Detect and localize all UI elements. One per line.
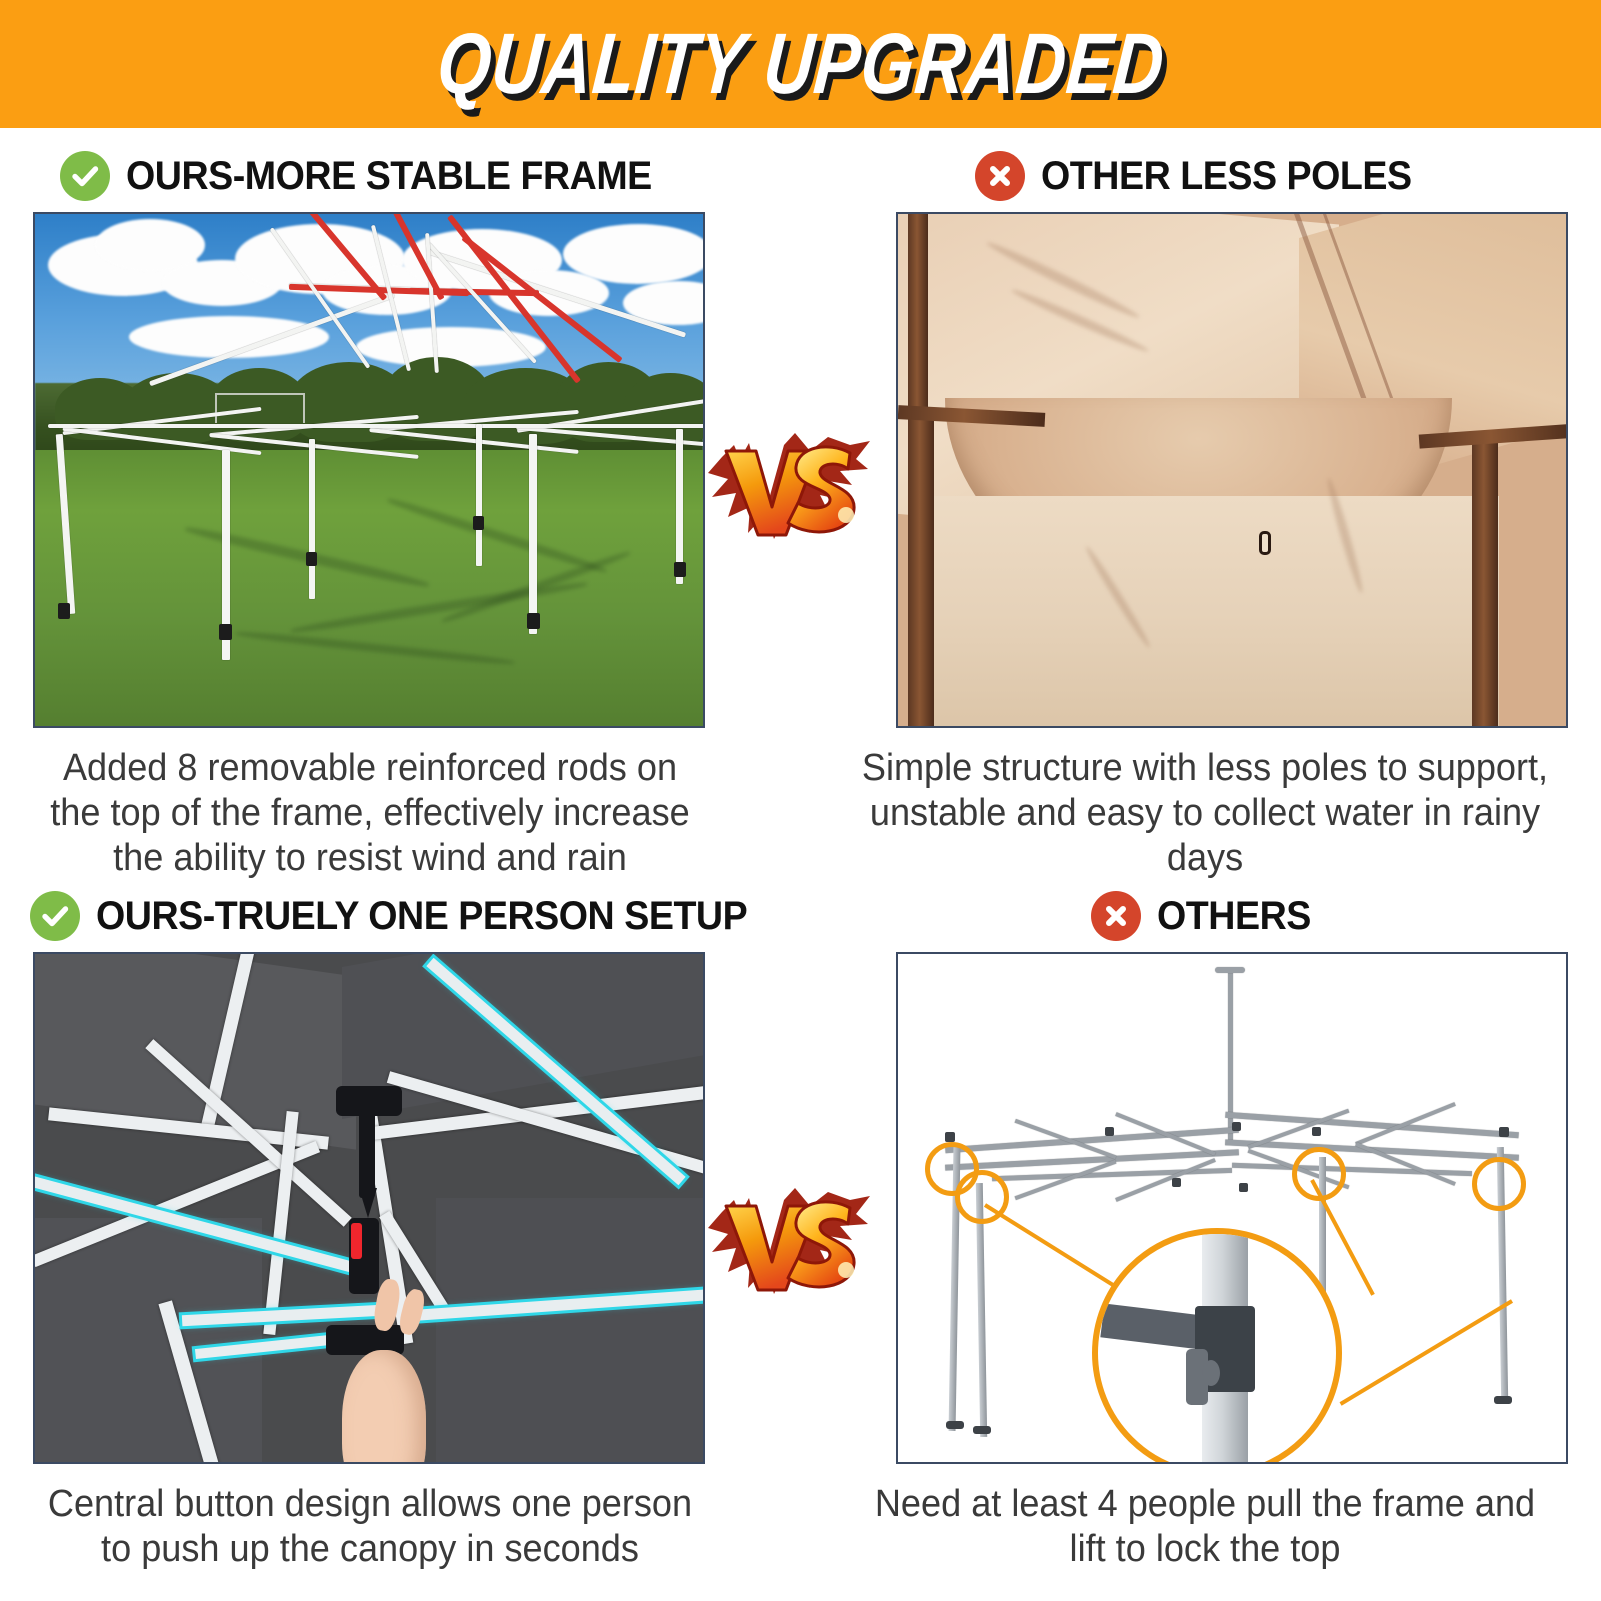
caption-ours-frame: Added 8 removable reinforced rods on the… bbox=[19, 746, 722, 880]
frame-bar bbox=[48, 424, 705, 428]
frame-foot bbox=[473, 516, 484, 530]
panel-other-poles: OTHER LESS POLES Simp bbox=[810, 140, 1601, 880]
frame-foot bbox=[219, 624, 232, 640]
page-header-banner: QUALITY UPGRADED bbox=[0, 0, 1601, 128]
caption-ours-setup: Central button design allows one person … bbox=[19, 1482, 722, 1572]
caption-other-poles: Simple structure with less poles to supp… bbox=[830, 746, 1581, 880]
frame-leg bbox=[476, 424, 482, 566]
check-circle-icon bbox=[30, 891, 80, 941]
grass-field bbox=[35, 450, 703, 726]
canopy-side-wall bbox=[925, 496, 1499, 726]
canopy-fabric-panel bbox=[436, 1198, 703, 1462]
lock-magnifier-circle bbox=[1092, 1228, 1342, 1464]
frame-foot bbox=[58, 603, 70, 619]
image-others-setup bbox=[896, 952, 1568, 1464]
caption-others-setup: Need at least 4 people pull the frame an… bbox=[830, 1482, 1581, 1572]
frame-joint bbox=[1105, 1127, 1114, 1136]
leg-foot bbox=[946, 1421, 964, 1429]
mast-cap bbox=[1215, 967, 1245, 973]
panel-ours-setup: OURS-TRUELY ONE PERSON SETUP bbox=[0, 880, 790, 1601]
sagging-canopy-photo bbox=[898, 214, 1566, 726]
check-circle-icon bbox=[60, 151, 110, 201]
frame-pole bbox=[908, 419, 934, 726]
x-circle-icon bbox=[1091, 891, 1141, 941]
canopy-field-photo bbox=[35, 214, 703, 726]
frame-leg bbox=[309, 439, 315, 599]
leg-foot bbox=[1494, 1396, 1512, 1404]
panel-heading-ours-setup: OURS-TRUELY ONE PERSON SETUP bbox=[0, 880, 790, 952]
page-title: QUALITY UPGRADED bbox=[434, 21, 1168, 107]
red-release-button[interactable] bbox=[351, 1223, 362, 1259]
panel-title-other-poles: OTHER LESS POLES bbox=[1041, 154, 1412, 199]
panel-heading-ours-frame: OURS-MORE STABLE FRAME bbox=[0, 140, 790, 212]
frame-joint bbox=[945, 1132, 955, 1142]
hub-tip-icon bbox=[359, 1188, 377, 1218]
hub-shaft bbox=[359, 1111, 375, 1197]
frame-leg bbox=[676, 429, 683, 584]
frame-pole bbox=[908, 214, 928, 419]
scissor-bar bbox=[1115, 1158, 1216, 1202]
frame-leg bbox=[529, 434, 537, 634]
panel-heading-others-setup: OTHERS bbox=[810, 880, 1601, 952]
image-ours-setup bbox=[33, 952, 705, 1464]
canopy-underside-photo bbox=[35, 954, 703, 1462]
canopy-hook bbox=[1259, 531, 1271, 555]
x-circle-icon bbox=[975, 151, 1025, 201]
panel-heading-other-poles: OTHER LESS POLES bbox=[810, 140, 1601, 212]
panel-title-ours-setup: OURS-TRUELY ONE PERSON SETUP bbox=[96, 894, 747, 939]
canopy-fabric-panel bbox=[35, 1218, 262, 1462]
panel-others-setup: OTHERS bbox=[810, 880, 1601, 1601]
frame-joint bbox=[1312, 1127, 1321, 1136]
frame-joint bbox=[1239, 1183, 1248, 1192]
lock-callout-circle bbox=[1472, 1157, 1526, 1211]
frame-joint bbox=[1172, 1178, 1181, 1187]
frame-diagram bbox=[898, 954, 1566, 1462]
frame-joint bbox=[1499, 1127, 1509, 1137]
frame-joint bbox=[1232, 1122, 1241, 1131]
frame-foot bbox=[306, 552, 317, 566]
roof-rail bbox=[992, 1168, 1232, 1181]
hand bbox=[342, 1350, 426, 1462]
leg-foot bbox=[973, 1426, 991, 1434]
panel-ours-frame: OURS-MORE STABLE FRAME bbox=[0, 140, 790, 880]
image-other-poles bbox=[896, 212, 1568, 728]
image-ours-frame bbox=[33, 212, 705, 728]
callout-leader-line bbox=[1340, 1300, 1513, 1406]
panel-title-others-setup: OTHERS bbox=[1157, 894, 1311, 939]
frame-foot bbox=[527, 613, 540, 629]
panel-title-ours-frame: OURS-MORE STABLE FRAME bbox=[126, 154, 652, 199]
infographic-page: QUALITY UPGRADED OURS-MORE STABLE FRAME bbox=[0, 0, 1601, 1601]
cloud bbox=[563, 224, 705, 284]
frame-foot bbox=[674, 562, 686, 577]
frame-pole bbox=[1472, 439, 1498, 726]
